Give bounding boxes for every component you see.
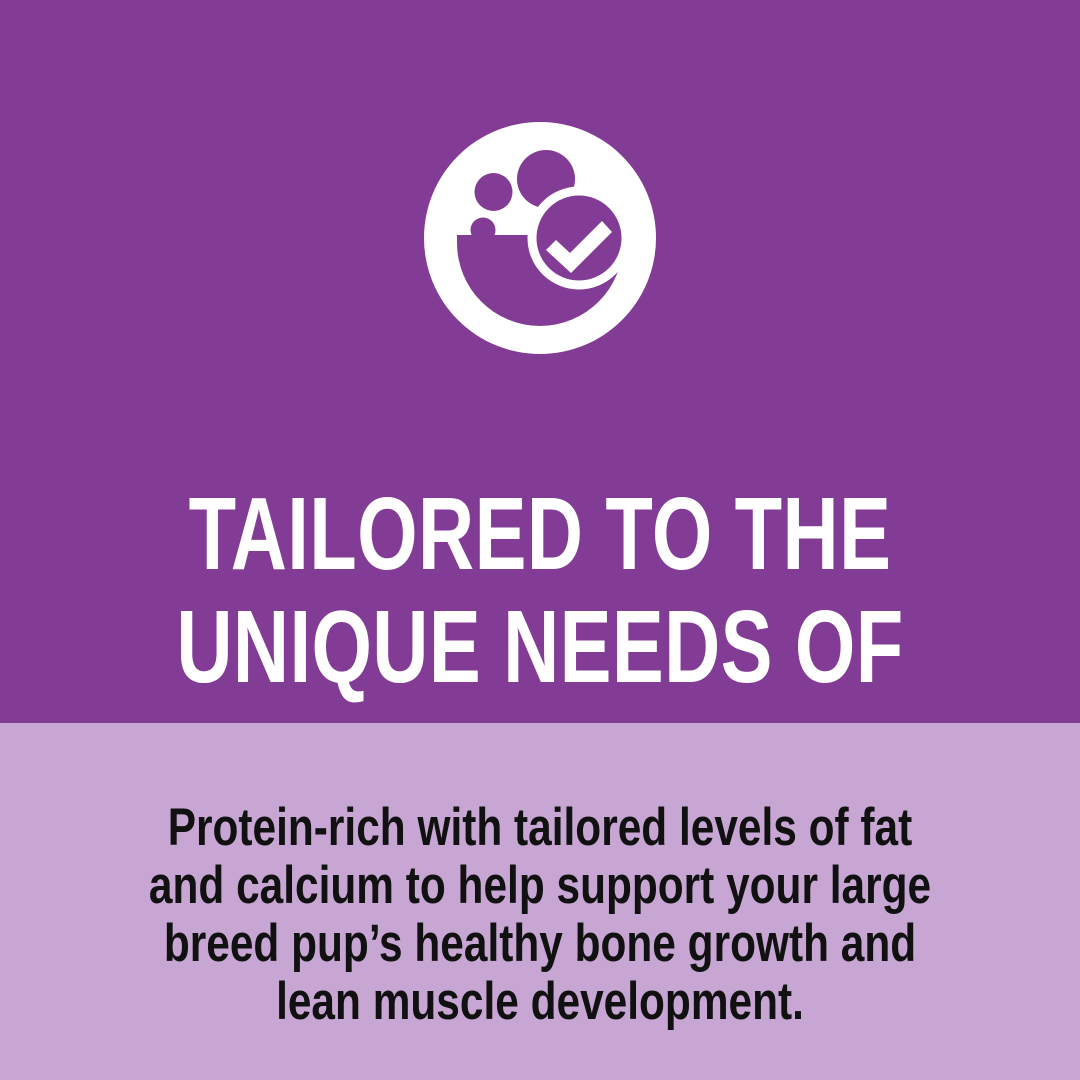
bowl-with-checkmark-icon: [424, 122, 656, 354]
top-purple-panel: TAILORED TO THE UNIQUE NEEDS OF GROWING …: [0, 0, 1080, 723]
body-description: Protein-rich with tailored levels of fat…: [108, 799, 972, 1031]
product-feature-card: TAILORED TO THE UNIQUE NEEDS OF GROWING …: [0, 0, 1080, 1080]
bottom-lavender-panel: Protein-rich with tailored levels of fat…: [0, 723, 1080, 1080]
